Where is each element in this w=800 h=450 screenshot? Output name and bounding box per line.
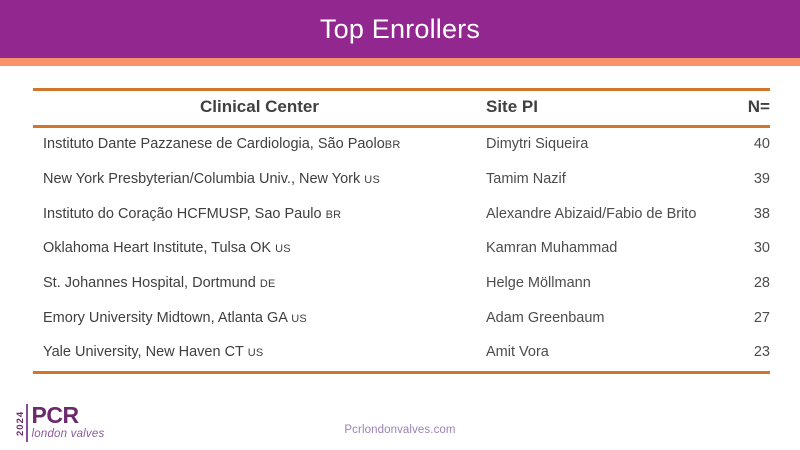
country-code: DE: [260, 278, 276, 290]
enrollers-table-body-element: Instituto Dante Pazzanese de Cardiologia…: [33, 128, 770, 371]
cell-clinical-center: Yale University, New Haven CT US: [33, 336, 476, 371]
table-row: St. Johannes Hospital, Dortmund DE Helge…: [33, 267, 770, 302]
logo-text: PCR london valves: [32, 404, 105, 442]
cell-enrollment-count: 38: [726, 197, 770, 232]
table-header-row: Clinical Center Site PI N=: [33, 91, 770, 125]
cell-site-pi: Kamran Muhammad: [476, 232, 726, 267]
column-header-clinical-center: Clinical Center: [33, 91, 476, 125]
cell-enrollment-count: 39: [726, 162, 770, 197]
clinical-center-name: Instituto do Coração HCFMUSP, Sao Paulo: [43, 206, 326, 222]
logo-subtitle: london valves: [32, 428, 105, 441]
country-code: US: [291, 313, 307, 325]
table-body: Instituto Dante Pazzanese de Cardiologia…: [33, 128, 770, 371]
table-row: Yale University, New Haven CT US Amit Vo…: [33, 336, 770, 371]
cell-site-pi: Amit Vora: [476, 336, 726, 371]
country-code: BR: [326, 209, 342, 221]
cell-site-pi: Adam Greenbaum: [476, 301, 726, 336]
clinical-center-name: New York Presbyterian/Columbia Univ., Ne…: [43, 171, 364, 187]
table-row: Instituto do Coração HCFMUSP, Sao Paulo …: [33, 197, 770, 232]
table-header: Clinical Center Site PI N=: [33, 91, 770, 125]
table-row: New York Presbyterian/Columbia Univ., Ne…: [33, 162, 770, 197]
cell-clinical-center: Instituto do Coração HCFMUSP, Sao Paulo …: [33, 197, 476, 232]
country-code: US: [248, 347, 264, 359]
cell-enrollment-count: 28: [726, 267, 770, 302]
cell-clinical-center: St. Johannes Hospital, Dortmund DE: [33, 267, 476, 302]
cell-enrollment-count: 30: [726, 232, 770, 267]
country-code: US: [364, 174, 380, 186]
cell-site-pi: Helge Möllmann: [476, 267, 726, 302]
footer-url: Pcrlondonvalves.com: [0, 424, 800, 436]
cell-clinical-center: Instituto Dante Pazzanese de Cardiologia…: [33, 128, 476, 163]
cell-site-pi: Alexandre Abizaid/Fabio de Brito: [476, 197, 726, 232]
cell-clinical-center: Emory University Midtown, Atlanta GA US: [33, 301, 476, 336]
cell-clinical-center: Oklahoma Heart Institute, Tulsa OK US: [33, 232, 476, 267]
slide-header-band: Top Enrollers: [0, 0, 800, 58]
column-header-site-pi: Site PI: [476, 91, 726, 125]
cell-enrollment-count: 40: [726, 128, 770, 163]
country-code: BR: [385, 139, 401, 151]
clinical-center-name: Emory University Midtown, Atlanta GA: [43, 310, 291, 326]
cell-clinical-center: New York Presbyterian/Columbia Univ., Ne…: [33, 162, 476, 197]
table-row: Oklahoma Heart Institute, Tulsa OK US Ka…: [33, 232, 770, 267]
logo-brand: PCR: [32, 405, 105, 427]
country-code: US: [275, 243, 291, 255]
logo-year: 2024: [14, 404, 26, 442]
clinical-center-name: Oklahoma Heart Institute, Tulsa OK: [43, 240, 275, 256]
pcr-london-valves-logo: 2024 PCR london valves: [14, 404, 104, 442]
clinical-center-name: Instituto Dante Pazzanese de Cardiologia…: [43, 136, 385, 152]
table-rule-bottom: [33, 371, 770, 374]
cell-enrollment-count: 23: [726, 336, 770, 371]
enrollers-table-element: Clinical Center Site PI N=: [33, 91, 770, 125]
column-header-n: N=: [726, 91, 770, 125]
enrollers-table: Clinical Center Site PI N= Instituto Dan…: [33, 88, 770, 374]
header-accent-rule: [0, 58, 800, 66]
cell-enrollment-count: 27: [726, 301, 770, 336]
clinical-center-name: Yale University, New Haven CT: [43, 344, 248, 360]
cell-site-pi: Tamim Nazif: [476, 162, 726, 197]
table-row: Emory University Midtown, Atlanta GA US …: [33, 301, 770, 336]
cell-site-pi: Dimytri Siqueira: [476, 128, 726, 163]
table-row: Instituto Dante Pazzanese de Cardiologia…: [33, 128, 770, 163]
page-title: Top Enrollers: [320, 16, 480, 43]
logo-divider: [26, 404, 28, 442]
clinical-center-name: St. Johannes Hospital, Dortmund: [43, 275, 260, 291]
